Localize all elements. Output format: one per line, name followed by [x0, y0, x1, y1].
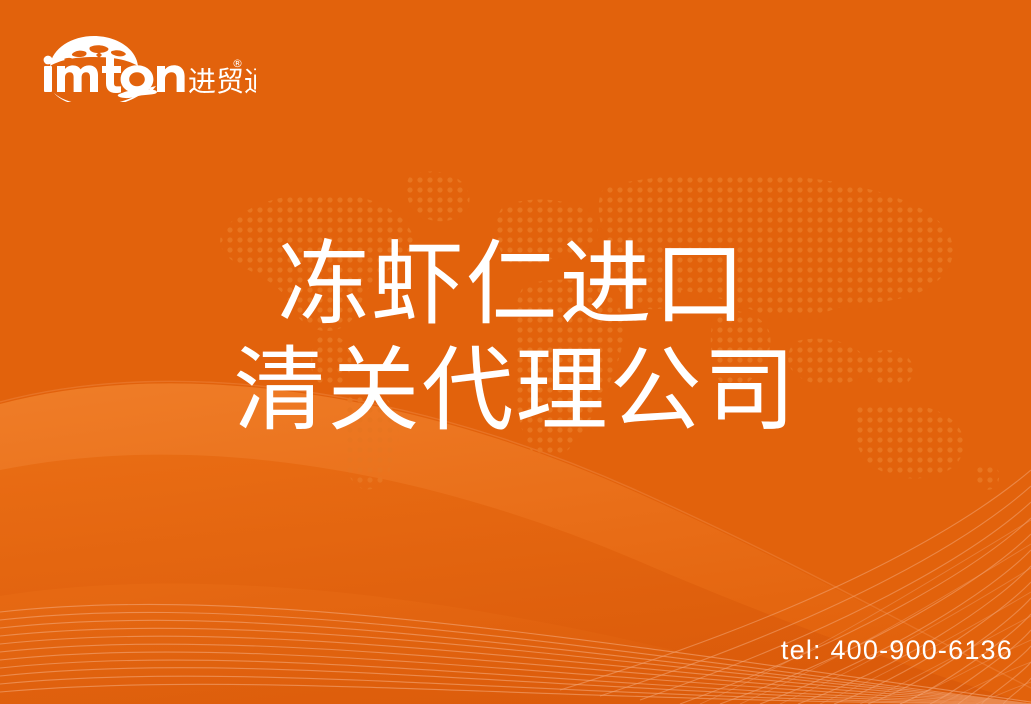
headline-line-1: 冻虾仁进口 [0, 232, 1031, 338]
page-title: 冻虾仁进口 清关代理公司 [0, 232, 1031, 444]
headline-line-2: 清关代理公司 [0, 338, 1031, 444]
contact-phone[interactable]: tel: 400-900-6136 [781, 635, 1013, 666]
brand-logo[interactable]: 进贸通 ® [36, 30, 256, 102]
logo-wordmark [44, 56, 185, 94]
registered-trademark-icon: ® [232, 57, 243, 70]
logo-chinese-name: 进贸通 [188, 65, 256, 98]
globe-icon [50, 36, 138, 66]
promotional-banner: 进贸通 ® 冻虾仁进口 清关代理公司 tel: 400-900-6136 [0, 0, 1031, 704]
